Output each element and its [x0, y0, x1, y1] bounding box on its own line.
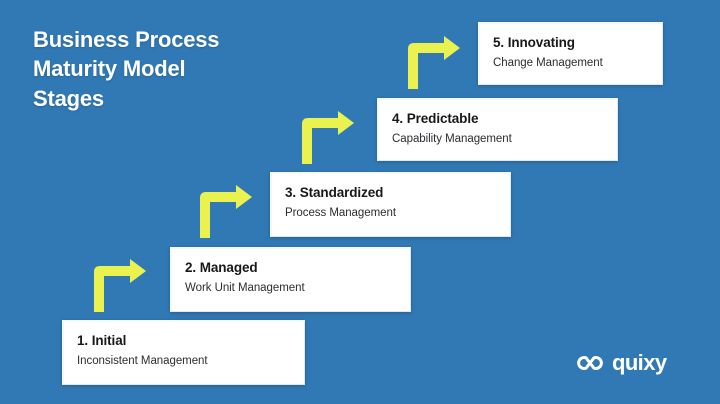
- stage-subtitle: Inconsistent Management: [77, 355, 304, 369]
- logo-text: quixy: [612, 352, 666, 374]
- stage-title: 1. Initial: [77, 333, 304, 349]
- stage-subtitle: Capability Management: [392, 133, 617, 147]
- slide-canvas: Business Process Maturity Model Stages 1…: [0, 0, 720, 404]
- stage-title: 3. Standardized: [285, 185, 510, 201]
- page-title: Business Process Maturity Model Stages: [33, 25, 333, 113]
- arrow-stage-4-to-5: [400, 35, 462, 90]
- stage-card-1-initial: 1. Initial Inconsistent Management: [62, 320, 305, 385]
- stage-title: 2. Managed: [185, 260, 410, 276]
- stage-card-5-innovating: 5. Innovating Change Management: [478, 22, 663, 85]
- stage-title: 4. Predictable: [392, 111, 617, 127]
- quixy-logo: quixy: [575, 352, 666, 374]
- stage-card-4-predictable: 4. Predictable Capability Management: [377, 98, 618, 161]
- stage-subtitle: Process Management: [285, 207, 510, 221]
- arrow-stage-3-to-4: [294, 110, 356, 165]
- interlocking-loops-icon: [575, 352, 605, 374]
- stage-subtitle: Change Management: [493, 57, 662, 71]
- stage-subtitle: Work Unit Management: [185, 282, 410, 296]
- stage-title: 5. Innovating: [493, 35, 662, 51]
- arrow-stage-1-to-2: [86, 258, 148, 313]
- stage-card-3-standardized: 3. Standardized Process Management: [270, 172, 511, 237]
- stage-card-2-managed: 2. Managed Work Unit Management: [170, 247, 411, 312]
- arrow-stage-2-to-3: [192, 184, 254, 239]
